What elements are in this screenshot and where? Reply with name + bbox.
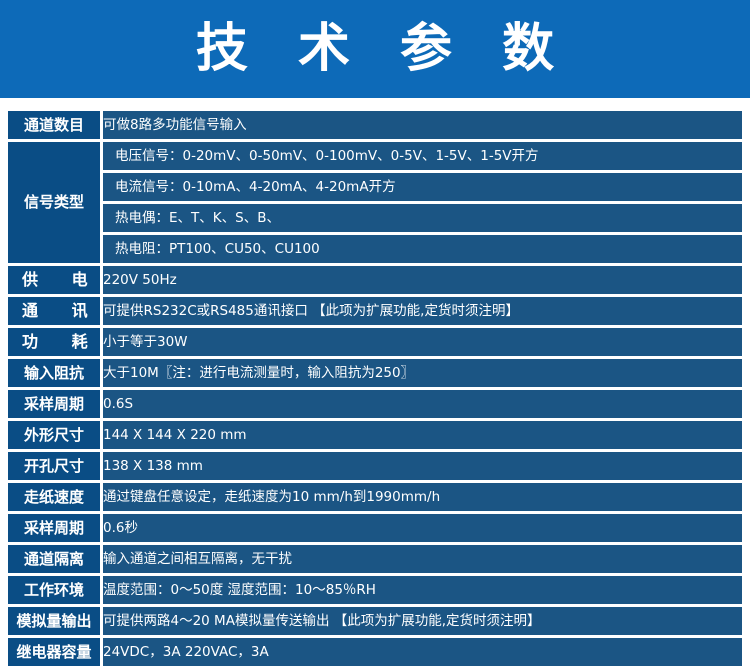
spec-label-cell: 供 电	[8, 266, 103, 297]
spec-label-cell: 功 耗	[8, 328, 103, 359]
spec-row: 功 耗小于等于30W	[8, 328, 742, 359]
spec-row: 通道隔离输入通道之间相互隔离，无干扰	[8, 545, 742, 576]
spec-label-text: 采样周期	[8, 396, 100, 413]
spec-value-cell: 24VDC，3A 220VAC，3A	[103, 638, 742, 669]
spec-value-cell: 可提供RS232C或RS485通讯接口 【此项为扩展功能,定货时须注明】	[103, 297, 742, 328]
spec-row: 通道数目可做8路多功能信号输入	[8, 111, 742, 142]
page-header-banner: 技 术 参 数	[0, 0, 750, 98]
spec-sheet-page: 技 术 参 数 通道数目可做8路多功能信号输入信号类型电压信号：0-20mV、0…	[0, 0, 750, 622]
spec-value-subrow: 电流信号：0-10mA、4-20mA、4-20mA开方	[103, 173, 742, 201]
spec-label-cell: 走纸速度	[8, 483, 103, 514]
spec-value-cell: 0.6秒	[103, 514, 742, 545]
spec-label-text: 外形尺寸	[8, 427, 100, 444]
spec-label-text: 工作环境	[8, 582, 100, 599]
spec-row: 输入阻抗大于10M〖注：进行电流测量时，输入阻抗为250〗	[8, 359, 742, 390]
spec-label-text: 开孔尺寸	[8, 458, 100, 475]
spec-row: 工作环境温度范围：0～50度 湿度范围：10～85％RH	[8, 576, 742, 607]
spec-label-text: 通 讯	[8, 302, 100, 320]
spec-label-text: 走纸速度	[8, 489, 100, 506]
spec-label-cell: 采样周期	[8, 390, 103, 421]
spec-label-cell: 工作环境	[8, 576, 103, 607]
spec-label-cell: 通道隔离	[8, 545, 103, 576]
spec-label-cell: 外形尺寸	[8, 421, 103, 452]
spec-label-text: 功 耗	[8, 333, 100, 351]
spec-value-cell: 144 X 144 X 220 mm	[103, 421, 742, 452]
spec-row: 模拟量输出可提供两路4～20 MA模拟量传送输出 【此项为扩展功能,定货时须注明…	[8, 607, 742, 638]
spec-label-text: 供 电	[8, 271, 100, 289]
spec-value-subrow: 热电偶：E、T、K、S、B、	[103, 204, 742, 232]
spec-value-cell: 温度范围：0～50度 湿度范围：10～85％RH	[103, 576, 742, 607]
spec-label-text: 继电器容量	[8, 644, 100, 661]
spec-label-cell: 采样周期	[8, 514, 103, 545]
spec-label-text: 输入阻抗	[8, 365, 100, 382]
spec-label-cell: 输入阻抗	[8, 359, 103, 390]
spec-label-cell: 开孔尺寸	[8, 452, 103, 483]
spec-label-cell: 通道数目	[8, 111, 103, 142]
spec-value-cell: 电压信号：0-20mV、0-50mV、0-100mV、0-5V、1-5V、1-5…	[103, 142, 742, 266]
spec-value-cell: 220V 50Hz	[103, 266, 742, 297]
spec-row: 走纸速度通过键盘任意设定，走纸速度为10 mm/h到1990mm/h	[8, 483, 742, 514]
spec-label-cell: 通 讯	[8, 297, 103, 328]
spec-label-text: 通道数目	[8, 117, 100, 134]
spec-label-text: 模拟量输出	[8, 613, 100, 630]
spec-value-cell: 138 X 138 mm	[103, 452, 742, 483]
spec-label-cell: 信号类型	[8, 142, 103, 266]
spec-value-cell: 输入通道之间相互隔离，无干扰	[103, 545, 742, 576]
technical-spec-table: 通道数目可做8路多功能信号输入信号类型电压信号：0-20mV、0-50mV、0-…	[8, 111, 742, 669]
spec-value-cell: 0.6S	[103, 390, 742, 421]
spec-label-text: 通道隔离	[8, 551, 100, 568]
spec-value-cell: 通过键盘任意设定，走纸速度为10 mm/h到1990mm/h	[103, 483, 742, 514]
spec-row: 外形尺寸144 X 144 X 220 mm	[8, 421, 742, 452]
spec-row: 采样周期0.6秒	[8, 514, 742, 545]
spec-row: 供 电220V 50Hz	[8, 266, 742, 297]
spec-row: 通 讯可提供RS232C或RS485通讯接口 【此项为扩展功能,定货时须注明】	[8, 297, 742, 328]
spec-label-text: 信号类型	[8, 194, 100, 211]
spec-label-cell: 继电器容量	[8, 638, 103, 669]
spec-row: 开孔尺寸138 X 138 mm	[8, 452, 742, 483]
spec-value-cell: 可做8路多功能信号输入	[103, 111, 742, 142]
spec-row: 继电器容量24VDC，3A 220VAC，3A	[8, 638, 742, 669]
page-title: 技 术 参 数	[180, 23, 570, 75]
spec-value-cell: 可提供两路4～20 MA模拟量传送输出 【此项为扩展功能,定货时须注明】	[103, 607, 742, 638]
spec-row: 采样周期0.6S	[8, 390, 742, 421]
spec-table-body: 通道数目可做8路多功能信号输入信号类型电压信号：0-20mV、0-50mV、0-…	[8, 111, 742, 669]
spec-label-text: 采样周期	[8, 520, 100, 537]
spec-value-subrow: 热电阻：PT100、CU50、CU100	[103, 235, 742, 263]
spec-value-cell: 大于10M〖注：进行电流测量时，输入阻抗为250〗	[103, 359, 742, 390]
spec-row: 信号类型电压信号：0-20mV、0-50mV、0-100mV、0-5V、1-5V…	[8, 142, 742, 266]
spec-value-cell: 小于等于30W	[103, 328, 742, 359]
spec-value-subrow: 电压信号：0-20mV、0-50mV、0-100mV、0-5V、1-5V、1-5…	[103, 142, 742, 170]
spec-label-cell: 模拟量输出	[8, 607, 103, 638]
